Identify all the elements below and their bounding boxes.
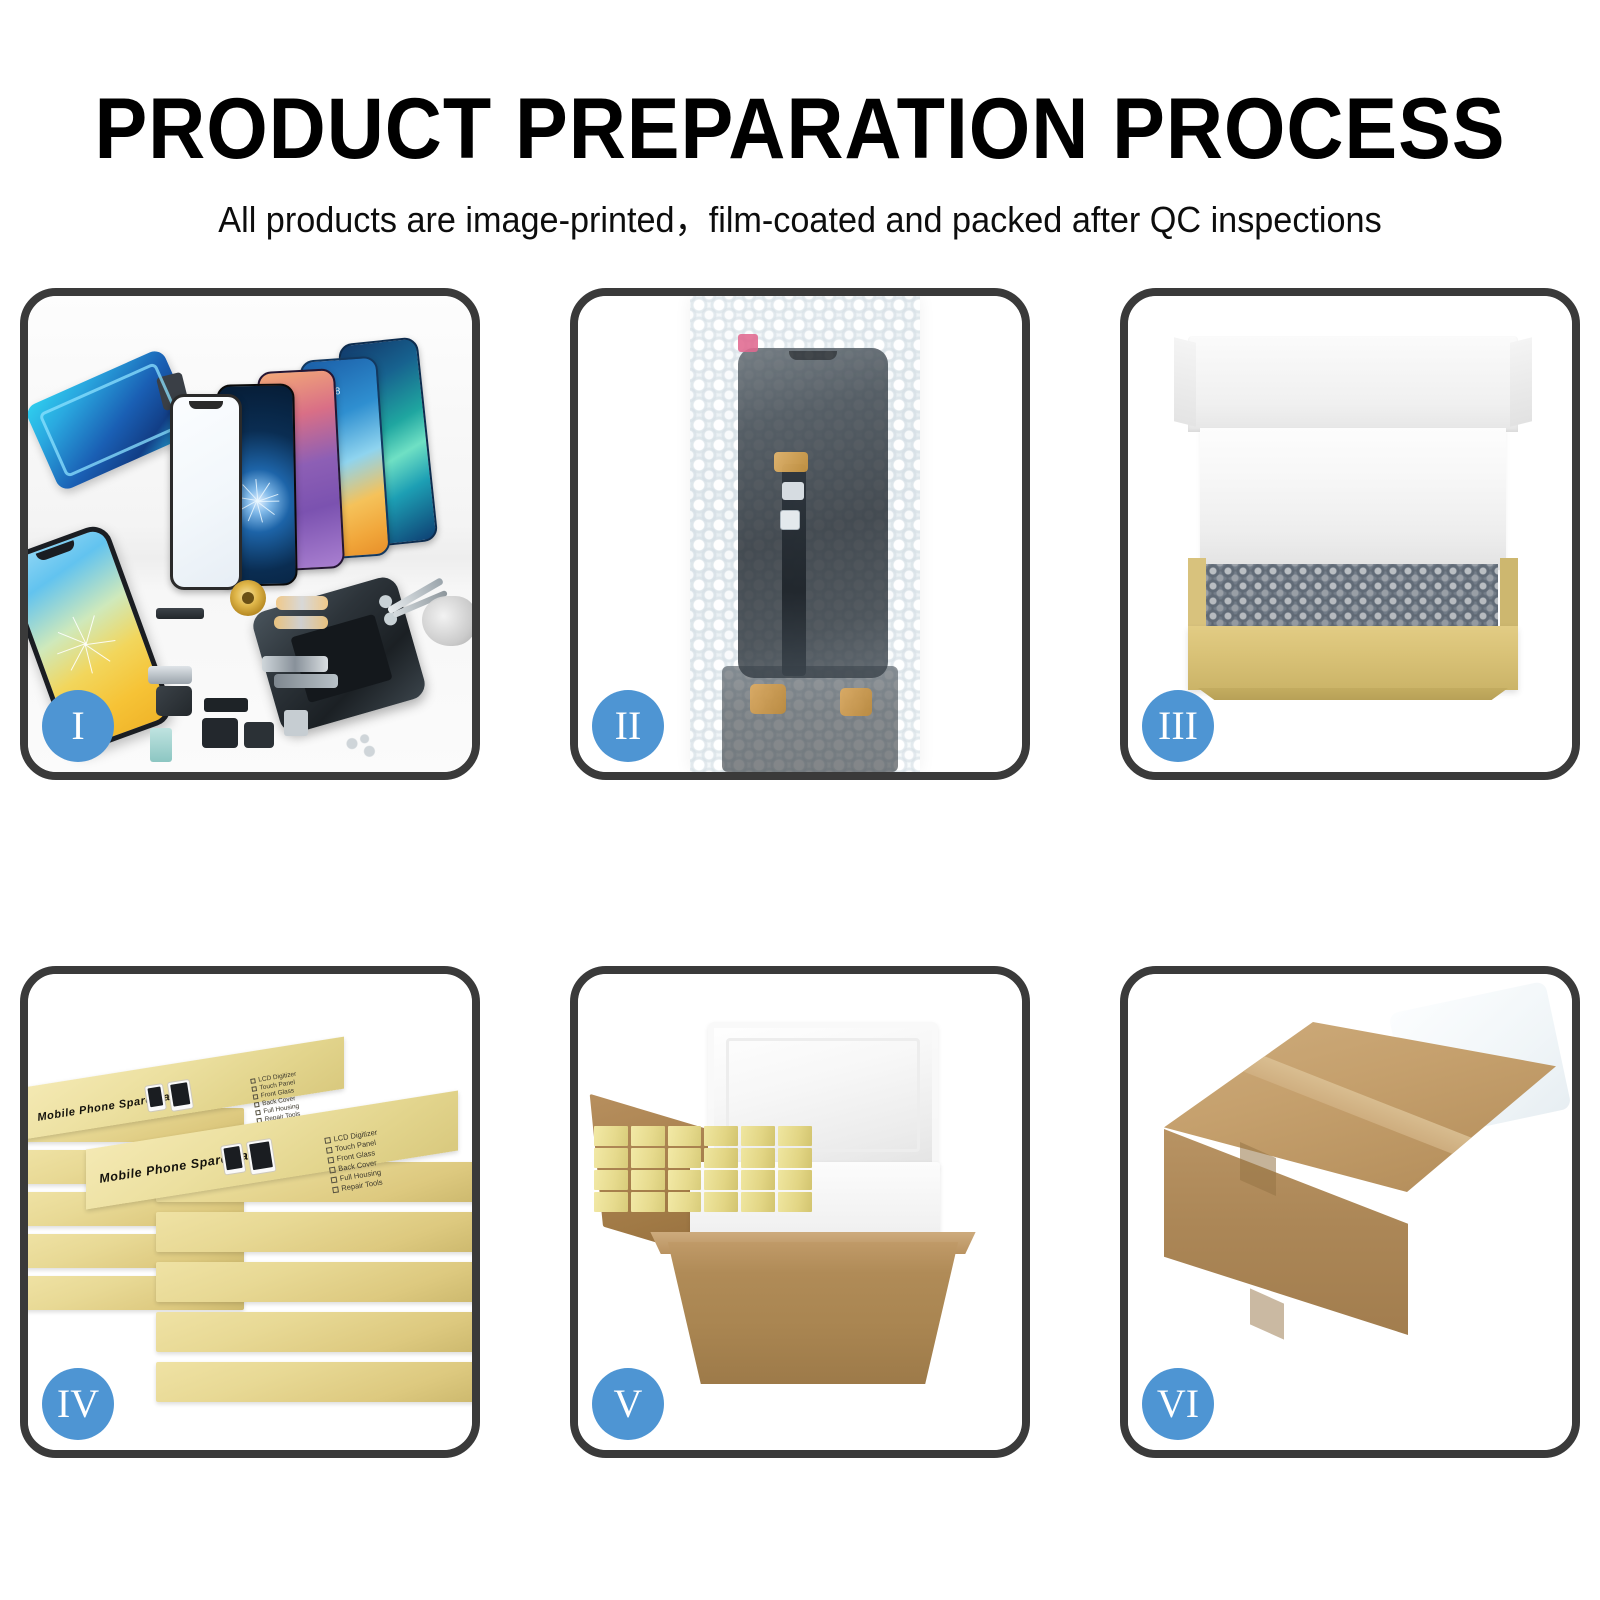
screws-part [346,734,376,758]
kraft-box-front [1188,626,1518,690]
vibrator-motor-part [204,698,248,712]
yellow-retail-boxes [594,1126,812,1212]
infographic-page: PRODUCT PREPARATION PROCESS All products… [0,0,1600,1600]
ic-chip-part [206,640,258,688]
retail-box [156,1312,472,1352]
lcd-lower-section [722,666,898,772]
shatter-pattern-icon [47,606,124,683]
process-step-1: 08:08 [20,288,480,780]
process-step-6: VI [1120,966,1580,1458]
bubble-wrap-sleeve [690,296,920,772]
checkbox-icon [250,1078,256,1084]
step-badge-5: V [592,1368,664,1440]
process-step-3: III [1120,288,1580,780]
metal-bracket-part [284,710,308,736]
white-box-lid-front [1200,428,1506,570]
checkbox-icon [324,1137,331,1144]
phone-lcd-icon [246,1138,277,1176]
page-title: PRODUCT PREPARATION PROCESS [64,86,1536,172]
checkbox-icon [253,1094,259,1100]
corrugated-carton [648,1242,978,1384]
step-badge-2: II [592,690,664,762]
retail-box [156,1362,472,1402]
process-step-5: V [570,966,1030,1458]
spare-parts-cluster [148,582,378,772]
checkbox-icon [254,1102,260,1108]
box-column [594,1126,628,1212]
step-badge-4: IV [42,1368,114,1440]
cleaning-brush-tool [422,596,472,646]
camera-module-part [156,686,192,716]
box-label-checklist-front: LCD Digitizer Touch Panel Front Glass Ba… [324,1128,386,1196]
retail-box [156,1262,472,1302]
box-column [668,1126,702,1212]
checkbox-icon [330,1176,337,1183]
taptic-engine-part [202,718,238,748]
sim-tray-part [150,728,172,762]
box-column [778,1126,812,1212]
pink-qc-tag [738,334,758,352]
speaker-module-part [244,722,274,748]
step-badge-6: VI [1142,1368,1214,1440]
process-step-grid: 08:08 [20,288,1580,1458]
checkbox-icon [326,1146,333,1153]
flex-cable-part [276,596,328,610]
earpiece-speaker-part [156,608,204,619]
step-badge-1: I [42,690,114,762]
checkbox-icon [255,1110,261,1116]
power-button-flex-part [274,674,338,688]
connector-flex-part [148,666,192,684]
kraft-retail-box-stack: Mobile Phone Spare Parts LCD Digitizer T… [28,1004,472,1434]
checkbox-icon [327,1156,334,1163]
box-column [704,1126,738,1212]
chip-component [780,510,800,530]
gold-connector [840,688,872,716]
phone-front-icon [144,1083,167,1113]
phone-front-icon [220,1143,246,1176]
board-connector [782,482,804,500]
retail-box [156,1212,472,1252]
page-subtitle: All products are image-printed，film-coat… [40,202,1560,238]
white-box-lid-back [1188,336,1518,432]
header: PRODUCT PREPARATION PROCESS All products… [0,0,1600,238]
lcd-assembly [738,348,888,678]
process-step-4: Mobile Phone Spare Parts LCD Digitizer T… [20,966,480,1458]
carton-seam [1250,1288,1284,1339]
checkbox-icon [332,1186,339,1193]
phone-display-fan: 08:08 [166,336,466,576]
gold-connector [750,684,786,714]
box-column [741,1126,775,1212]
wireless-charging-coil-part [230,580,266,616]
step-badge-3: III [1142,690,1214,762]
volume-button-flex-part [262,656,328,672]
front-glass-panel [170,394,242,590]
flex-cable-part [274,616,328,629]
checkbox-icon [329,1166,336,1173]
gold-connector [774,452,808,472]
box-column [631,1126,665,1212]
phone-lcd-icon [167,1079,194,1112]
checkbox-icon [251,1086,257,1092]
process-step-2: II [570,288,1030,780]
